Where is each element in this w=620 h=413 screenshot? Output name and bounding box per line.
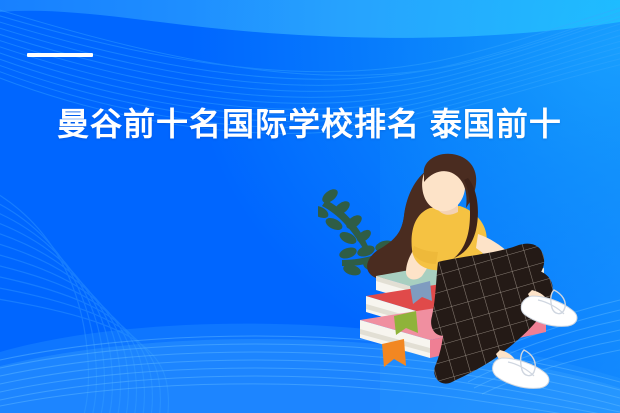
- page-title: 曼谷前十名国际学校排名 泰国前十: [57, 104, 562, 144]
- banner: 曼谷前十名国际学校排名 泰国前十: [0, 0, 620, 413]
- person: [384, 154, 577, 389]
- bookmark-orange: [382, 339, 406, 367]
- illustration-woman-sitting-on-book-stack: [318, 150, 620, 413]
- accent-bar: [27, 53, 93, 57]
